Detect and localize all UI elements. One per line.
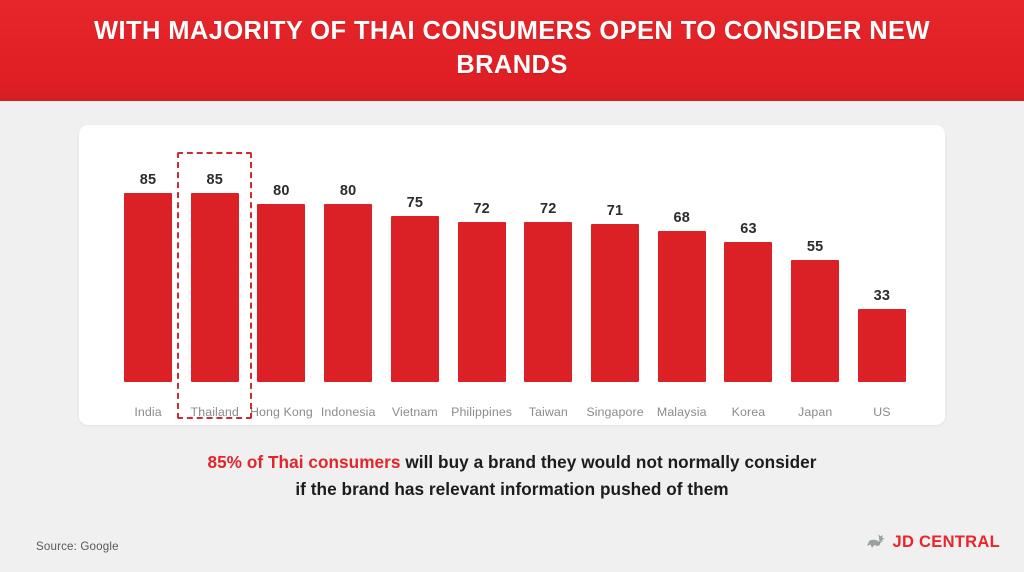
bar-value-label: 72 — [540, 201, 557, 217]
chart-card: 85India85Thailand80Hong Kong80Indonesia7… — [79, 125, 945, 425]
bar[interactable] — [724, 242, 772, 382]
jd-dog-mascot-icon — [865, 533, 887, 552]
bar-category-label: Singapore — [586, 405, 643, 419]
bar-value-label: 55 — [807, 239, 824, 255]
bar-value-label: 63 — [740, 221, 757, 237]
bar[interactable] — [791, 260, 839, 382]
bar-category-label: Philippines — [451, 405, 512, 419]
bar[interactable] — [391, 216, 439, 383]
brand-logo-text: JD CENTRAL — [892, 533, 1000, 552]
caption-highlight: 85% of Thai consumers — [207, 452, 400, 472]
bar[interactable] — [524, 222, 572, 382]
bar-category-label: India — [134, 405, 161, 419]
bar-value-label: 71 — [607, 203, 624, 219]
bar-column[interactable]: 85India — [115, 133, 181, 425]
bar-value-label: 80 — [273, 183, 290, 199]
bar-column[interactable]: 33US — [849, 133, 915, 425]
bar-value-label: 72 — [473, 201, 490, 217]
bar-category-label: US — [873, 405, 890, 419]
bar[interactable] — [858, 309, 906, 382]
bar[interactable] — [591, 224, 639, 382]
bar-category-label: Taiwan — [529, 405, 568, 419]
bar-column[interactable]: 75Vietnam — [382, 133, 448, 425]
slide: WITH MAJORITY OF THAI CONSUMERS OPEN TO … — [0, 0, 1024, 572]
bar-category-label: Japan — [798, 405, 832, 419]
page-title: WITH MAJORITY OF THAI CONSUMERS OPEN TO … — [62, 15, 962, 82]
bar-category-label: Hong Kong — [250, 405, 313, 419]
bar[interactable] — [324, 204, 372, 382]
bar[interactable] — [124, 193, 172, 382]
brand-logo: JD CENTRAL — [865, 533, 1000, 552]
bar-value-label: 80 — [340, 183, 357, 199]
bar-column[interactable]: 80Indonesia — [315, 133, 381, 425]
bar-column[interactable]: 72Philippines — [449, 133, 515, 425]
caption-rest: will buy a brand they would not normally… — [401, 452, 817, 472]
source-note: Source: Google — [36, 540, 119, 553]
bar-column[interactable]: 68Malaysia — [649, 133, 715, 425]
bar-chart: 85India85Thailand80Hong Kong80Indonesia7… — [79, 125, 945, 425]
bar[interactable] — [658, 231, 706, 382]
bar-category-label: Vietnam — [392, 405, 438, 419]
bar-column[interactable]: 63Korea — [715, 133, 781, 425]
bar-value-label: 85 — [206, 172, 223, 188]
caption-line-1: 85% of Thai consumers will buy a brand t… — [0, 449, 1024, 476]
bar-value-label: 75 — [407, 195, 424, 211]
bar-column[interactable]: 72Taiwan — [515, 133, 581, 425]
bar-value-label: 33 — [874, 288, 891, 304]
bar-series: 85India85Thailand80Hong Kong80Indonesia7… — [115, 133, 915, 425]
caption: 85% of Thai consumers will buy a brand t… — [0, 449, 1024, 502]
bar-category-label: Thailand — [191, 405, 239, 419]
bar-value-label: 85 — [140, 172, 157, 188]
caption-line-2: if the brand has relevant information pu… — [0, 476, 1024, 503]
bar-column[interactable]: 71Singapore — [582, 133, 648, 425]
bar[interactable] — [458, 222, 506, 382]
bar[interactable] — [191, 193, 239, 382]
bar-category-label: Malaysia — [657, 405, 707, 419]
bar-column[interactable]: 55Japan — [782, 133, 848, 425]
bar-category-label: Indonesia — [321, 405, 376, 419]
bar-category-label: Korea — [732, 405, 766, 419]
bar[interactable] — [257, 204, 305, 382]
header-band: WITH MAJORITY OF THAI CONSUMERS OPEN TO … — [0, 0, 1024, 101]
bar-value-label: 68 — [673, 210, 690, 226]
bar-column[interactable]: 85Thailand — [182, 133, 248, 425]
bar-column[interactable]: 80Hong Kong — [248, 133, 314, 425]
